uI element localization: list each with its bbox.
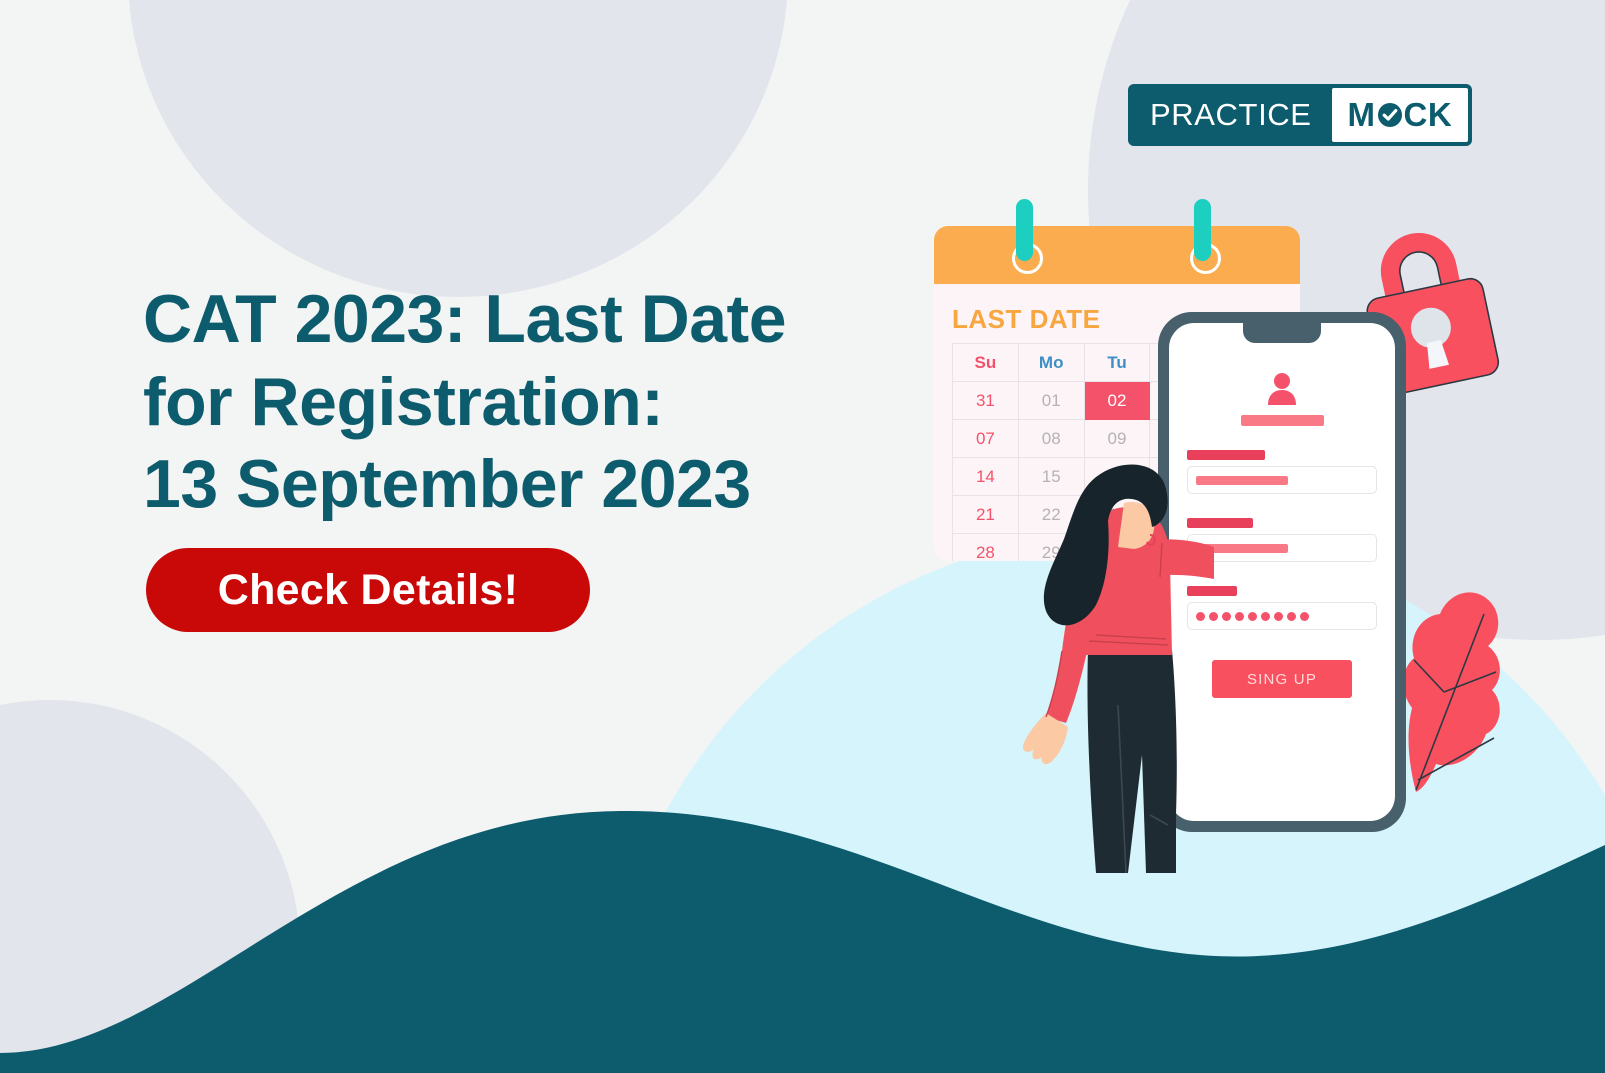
logo-mock-m: M bbox=[1348, 96, 1376, 134]
headline-line-1: CAT 2023: Last Date bbox=[143, 278, 903, 361]
user-avatar-icon bbox=[1264, 371, 1300, 407]
logo-mock-ck: CK bbox=[1404, 96, 1453, 134]
headline-line-3: 13 September 2023 bbox=[143, 443, 903, 526]
field-2-input[interactable] bbox=[1187, 534, 1377, 562]
calendar-day: 31 bbox=[953, 382, 1019, 420]
calendar-day: 09 bbox=[1084, 420, 1150, 458]
password-dot bbox=[1287, 612, 1296, 621]
logo-mock-badge: M CK bbox=[1332, 88, 1469, 142]
calendar-binder-ring-right bbox=[1194, 199, 1211, 261]
form-field-3 bbox=[1187, 586, 1377, 630]
leaf-icon bbox=[1398, 552, 1518, 802]
headline-line-2: for Registration: bbox=[143, 361, 903, 444]
form-field-2 bbox=[1187, 518, 1377, 562]
form-title-placeholder bbox=[1241, 415, 1324, 426]
decorative-circle-top-left bbox=[128, 0, 788, 297]
password-dot bbox=[1248, 612, 1257, 621]
check-details-button[interactable]: Check Details! bbox=[146, 548, 590, 632]
page-title: CAT 2023: Last Date for Registration: 13… bbox=[143, 278, 903, 527]
calendar-weekday-su: Su bbox=[953, 344, 1019, 382]
practicemock-logo[interactable]: PRACTICE M CK bbox=[1128, 84, 1472, 146]
check-circle-icon bbox=[1377, 102, 1403, 128]
calendar-day: 01 bbox=[1018, 382, 1084, 420]
logo-practice-text: PRACTICE bbox=[1132, 88, 1332, 142]
form-field-1 bbox=[1187, 450, 1377, 494]
calendar-day-highlighted: 02 bbox=[1084, 382, 1150, 420]
password-dot bbox=[1222, 612, 1231, 621]
password-dot bbox=[1235, 612, 1244, 621]
calendar-header-bar bbox=[934, 226, 1300, 284]
signup-button[interactable]: SING UP bbox=[1212, 660, 1352, 698]
promo-banner: CAT 2023: Last Date for Registration: 13… bbox=[0, 0, 1605, 1073]
phone-notch bbox=[1243, 323, 1321, 343]
calendar-weekday-mo: Mo bbox=[1018, 344, 1084, 382]
calendar-weekday-tu: Tu bbox=[1084, 344, 1150, 382]
calendar-binder-ring-left bbox=[1016, 199, 1033, 261]
calendar-day: 07 bbox=[953, 420, 1019, 458]
calendar-day: 08 bbox=[1018, 420, 1084, 458]
password-input[interactable] bbox=[1187, 602, 1377, 630]
password-dot bbox=[1300, 612, 1309, 621]
password-dot bbox=[1274, 612, 1283, 621]
woman-pointing-icon bbox=[1000, 455, 1215, 875]
password-dot bbox=[1261, 612, 1270, 621]
field-1-input[interactable] bbox=[1187, 466, 1377, 494]
